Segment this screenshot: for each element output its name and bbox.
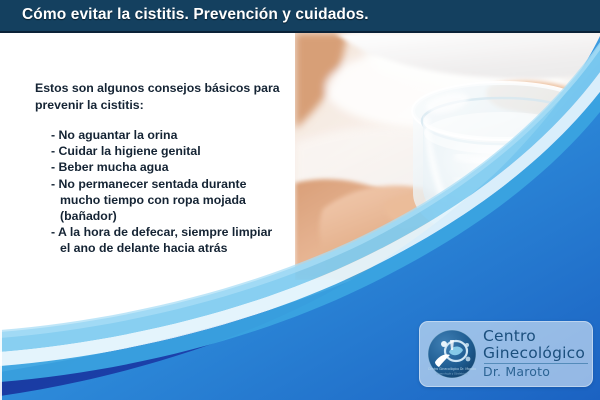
header-bar: Cómo evitar la cistitis. Prevención y cu… xyxy=(0,0,600,33)
photo-illustration xyxy=(295,33,600,280)
logo-line-doctor: Dr. Maroto xyxy=(483,366,592,379)
list-item: - A la hora de defecar, siempre limpiar … xyxy=(51,224,285,256)
emblem-graphic: Centro Ginecológico Dr. Maroto Ginecolog… xyxy=(426,328,478,380)
tips-list: - No aguantar la orina - Cuidar la higie… xyxy=(35,127,285,257)
logo-line-ginecologico: Ginecológico xyxy=(483,346,592,362)
emblem-caption: Centro Ginecológico Dr. Maroto xyxy=(428,367,476,371)
advice-content: Estos son algunos consejos básicos para … xyxy=(35,80,285,257)
list-item: - Beber mucha agua xyxy=(51,159,285,175)
photo-hand-holding-glass xyxy=(295,33,600,280)
left-edge-line xyxy=(0,33,2,400)
intro-paragraph: Estos son algunos consejos básicos para … xyxy=(35,80,285,113)
list-item: - No aguantar la orina xyxy=(51,127,285,143)
slide-root: Cómo evitar la cistitis. Prevención y cu… xyxy=(0,0,600,400)
list-item: - Cuidar la higiene genital xyxy=(51,143,285,159)
list-item: - No permanecer sentada durante mucho ti… xyxy=(51,176,285,225)
clinic-emblem-icon: Centro Ginecológico Dr. Maroto Ginecolog… xyxy=(426,328,478,380)
clinic-logo-text: Centro Ginecológico Dr. Maroto xyxy=(483,329,592,379)
page-title: Cómo evitar la cistitis. Prevención y cu… xyxy=(22,6,369,24)
logo-divider xyxy=(484,363,588,364)
logo-line-centro: Centro xyxy=(483,329,592,345)
clinic-logo-badge[interactable]: Centro Ginecológico Dr. Maroto Ginecolog… xyxy=(419,321,593,387)
emblem-subcaption: Ginecología y Obstetricia xyxy=(436,371,468,375)
